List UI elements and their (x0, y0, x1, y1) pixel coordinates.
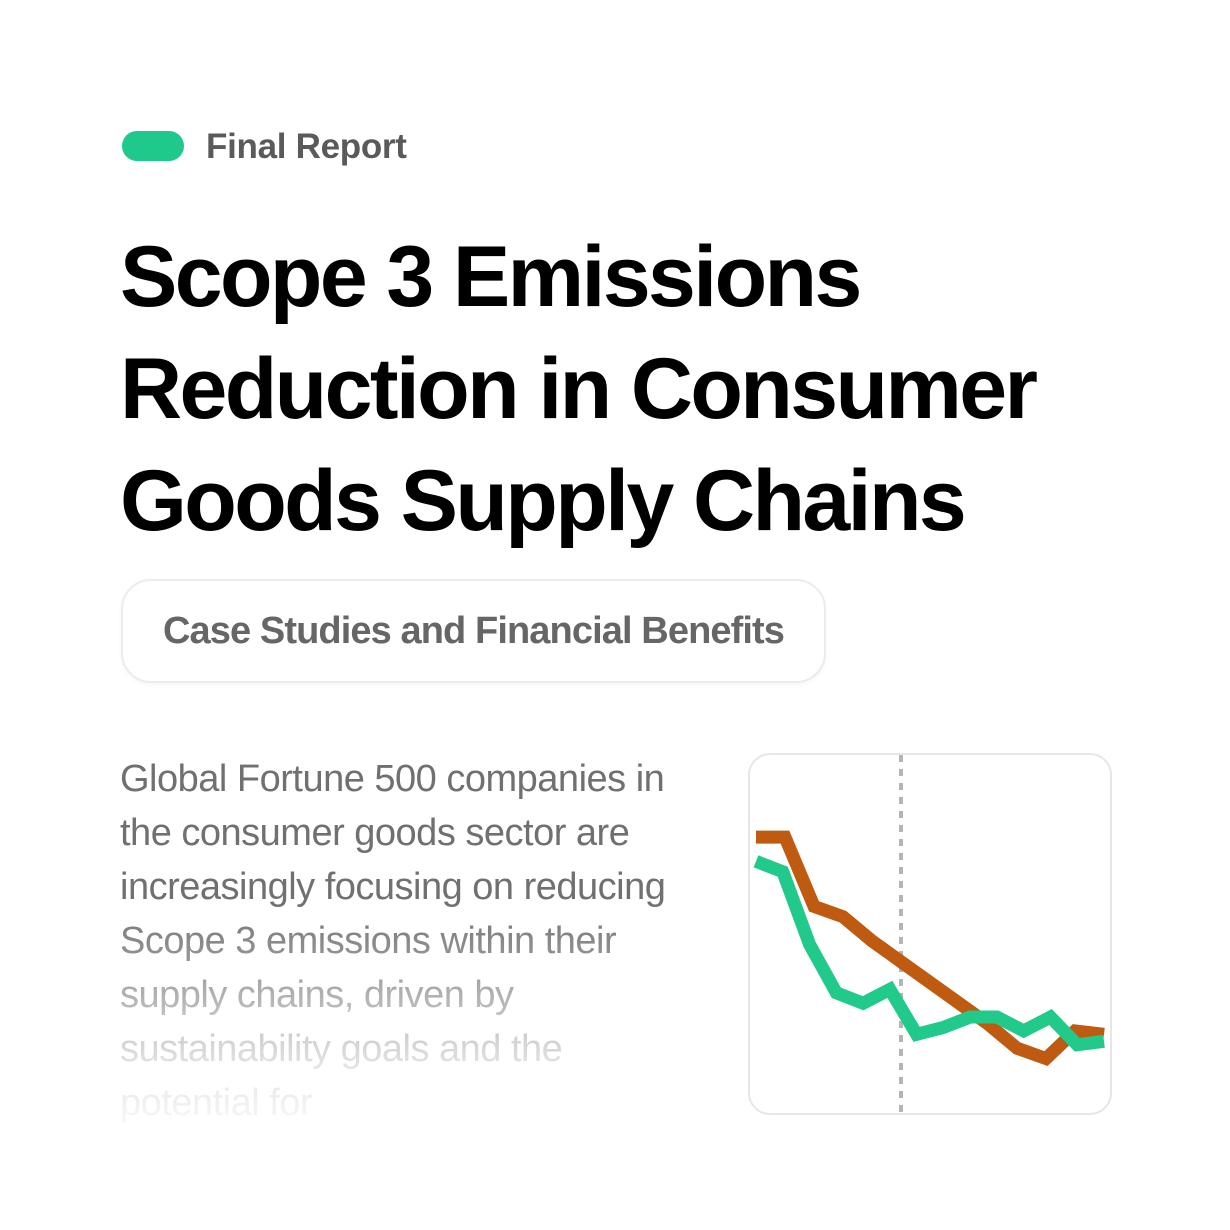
eyebrow-label: Final Report (206, 129, 407, 164)
line-chart (750, 755, 1110, 1113)
eyebrow: Final Report (122, 122, 407, 170)
status-pill-icon (122, 131, 184, 161)
subtitle-chip-label: Case Studies and Financial Benefits (163, 612, 784, 650)
body-paragraph: Global Fortune 500 companies in the cons… (120, 752, 700, 1130)
subtitle-chip[interactable]: Case Studies and Financial Benefits (121, 579, 826, 683)
page-title: Scope 3 Emissions Reduction in Consumer … (120, 222, 1080, 557)
trend-chart-card (748, 753, 1112, 1115)
report-card: Final Report Scope 3 Emissions Reduction… (0, 0, 1230, 1230)
body-paragraph-container: Global Fortune 500 companies in the cons… (120, 752, 700, 1230)
